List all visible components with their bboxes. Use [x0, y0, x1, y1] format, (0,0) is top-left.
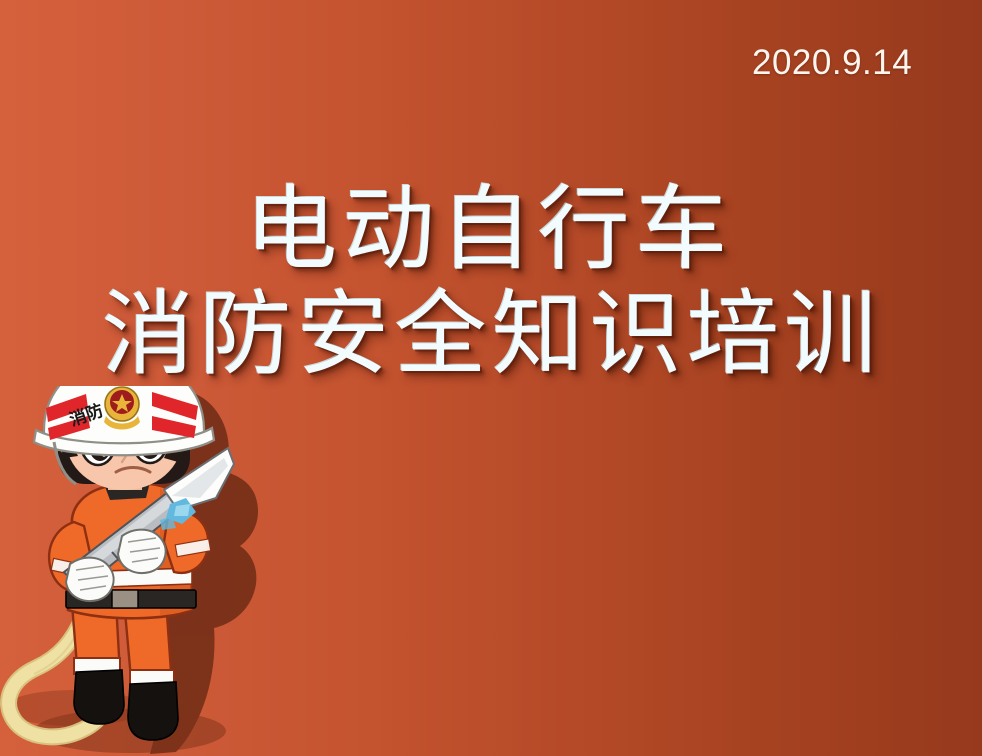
firefighter-illustration: 消防 — [0, 386, 330, 756]
glove-lower — [66, 558, 114, 601]
glove-upper — [118, 530, 166, 573]
boot-right — [128, 682, 178, 740]
boot-left — [74, 670, 124, 724]
slide-title: 电动自行车 消防安全知识培训 — [0, 178, 982, 388]
slide-date: 2020.9.14 — [752, 43, 912, 83]
title-line-1: 电动自行车 — [0, 178, 978, 282]
title-slide: 2020.9.14 电动自行车 消防安全知识培训 — [0, 0, 982, 756]
title-line-2: 消防安全知识培训 — [2, 282, 982, 388]
